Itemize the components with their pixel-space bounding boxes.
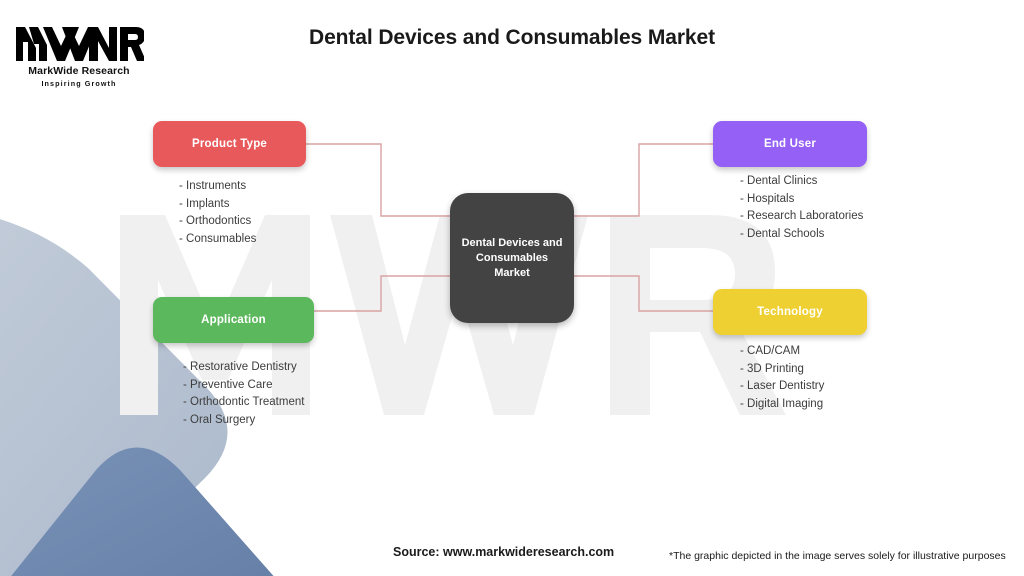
list-item: - Oral Surgery [183,412,304,430]
list-item: - Implants [179,196,256,214]
connector-product-type [306,144,452,216]
decor-shape-dark [0,448,330,576]
category-label-application: Application [201,314,266,326]
hub-label: Dental Devices and Consumables Market [458,236,566,281]
list-item: - Hospitals [740,191,863,209]
category-pill-technology[interactable]: Technology [713,289,867,335]
hub-label-line1: Dental Devices and [462,237,563,249]
connector-application [314,276,452,311]
list-item: - Orthodontic Treatment [183,394,304,412]
list-item: - Instruments [179,178,256,196]
category-pill-application[interactable]: Application [153,297,314,343]
hub-label-line2: Consumables Market [476,252,548,279]
list-item: - Digital Imaging [740,396,824,414]
category-items-product-type: - Instruments - Implants - Orthodontics … [179,178,256,248]
list-item: - Preventive Care [183,377,304,395]
list-item: - 3D Printing [740,361,824,379]
list-item: - Orthodontics [179,213,256,231]
list-item: - Research Laboratories [740,208,863,226]
category-label-end-user: End User [764,138,816,150]
category-label-technology: Technology [757,306,823,318]
list-item: - Dental Schools [740,226,863,244]
brand-tagline: Inspiring Growth [14,79,144,88]
page-title: Dental Devices and Consumables Market [0,26,1024,50]
category-items-application: - Restorative Dentistry - Preventive Car… [183,359,304,429]
category-label-product-type: Product Type [192,138,267,150]
category-items-technology: - CAD/CAM - 3D Printing - Laser Dentistr… [740,343,824,413]
source-attribution: Source: www.markwideresearch.com [393,545,614,559]
list-item: - Dental Clinics [740,173,863,191]
hub-node: Dental Devices and Consumables Market [450,193,574,323]
list-item: - CAD/CAM [740,343,824,361]
category-items-end-user: - Dental Clinics - Hospitals - Research … [740,173,863,243]
list-item: - Laser Dentistry [740,378,824,396]
list-item: - Consumables [179,231,256,249]
disclaimer-note: *The graphic depicted in the image serve… [669,550,1006,562]
category-pill-product-type[interactable]: Product Type [153,121,306,167]
list-item: - Restorative Dentistry [183,359,304,377]
connector-end-user [572,144,713,216]
connector-technology [572,276,713,311]
category-pill-end-user[interactable]: End User [713,121,867,167]
infographic-canvas: MarkWide Research Inspiring Growth Denta… [0,0,1024,576]
brand-name: MarkWide Research [14,65,144,77]
